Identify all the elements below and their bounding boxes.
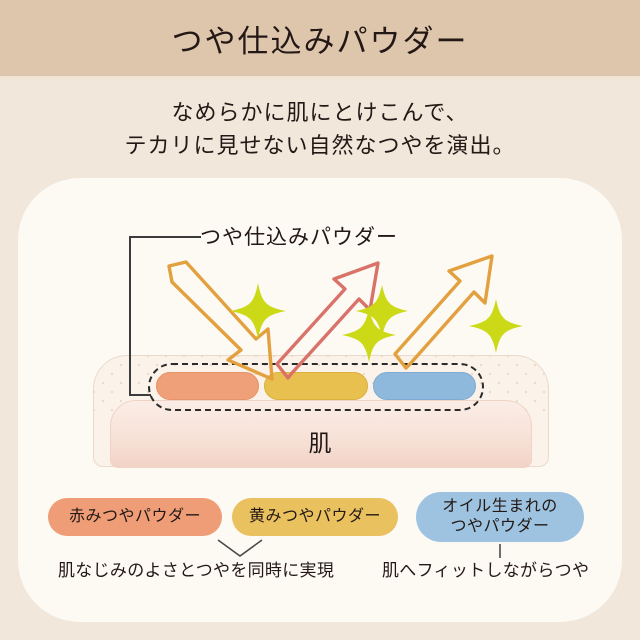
infographic-page: つや仕込みパウダー なめらかに肌にとけこんで、 テカリに見せない自然なつやを演出… <box>0 0 640 640</box>
caption-right: 肌へフィットしながらつや <box>382 556 589 581</box>
legend: 赤みつやパウダー 黄みつやパウダー オイル生まれの つやパウダー <box>0 492 640 544</box>
legend-pill-yellow[interactable]: 黄みつやパウダー <box>232 498 398 536</box>
callout-label: つや仕込みパウダー <box>200 221 398 251</box>
legend-pill-yellow-label: 黄みつやパウダー <box>249 507 381 527</box>
page-title: つや仕込みパウダー <box>172 16 469 61</box>
header-band: つや仕込みパウダー <box>0 0 640 76</box>
skin-label: 肌 <box>0 424 640 458</box>
legend-pill-blue[interactable]: オイル生まれの つやパウダー <box>416 492 584 542</box>
powder-pill-blue <box>373 372 476 400</box>
callout-leader-vertical <box>129 236 131 396</box>
subtitle: なめらかに肌にとけこんで、 テカリに見せない自然なつやを演出。 <box>0 96 640 162</box>
callout-leader-foot <box>129 394 151 396</box>
legend-pill-red[interactable]: 赤みつやパウダー <box>48 498 222 536</box>
legend-pill-red-label: 赤みつやパウダー <box>69 507 201 527</box>
callout-leader-horizontal <box>129 236 201 238</box>
legend-pill-blue-label-line-1: オイル生まれの <box>442 497 558 517</box>
caption-left: 肌なじみのよさとつやを同時に実現 <box>58 556 334 581</box>
powder-pill-yellow <box>264 372 367 400</box>
subtitle-line-2: テカリに見せない自然なつやを演出。 <box>0 129 640 162</box>
subtitle-line-1: なめらかに肌にとけこんで、 <box>0 96 640 129</box>
header-divider <box>0 76 640 81</box>
legend-pill-blue-label-line-2: つやパウダー <box>442 517 558 537</box>
powder-row <box>156 372 476 400</box>
powder-pill-red <box>156 372 259 400</box>
